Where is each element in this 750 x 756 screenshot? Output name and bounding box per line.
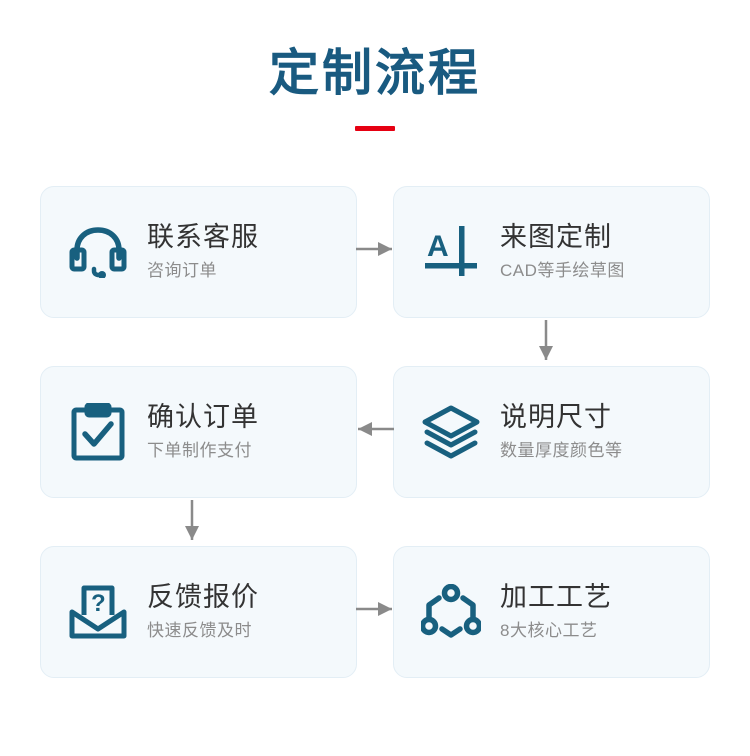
flow-step-title: 反馈报价 (147, 580, 259, 614)
flow-step-processing-craft[interactable]: 加工工艺 8大核心工艺 (393, 546, 710, 678)
flow-step-text: 说明尺寸 数量厚度颜色等 (500, 400, 623, 464)
flow-step-subtitle: 快速反馈及时 (147, 618, 259, 644)
connector-arrow-right-icon (356, 240, 394, 263)
drafting-a-icon: A (420, 221, 482, 283)
flow-step-title: 确认订单 (147, 400, 259, 434)
connector-arrow-right-icon (356, 600, 394, 623)
headset-icon (67, 221, 129, 283)
flow-step-text: 来图定制 CAD等手绘草图 (500, 220, 625, 284)
connector-arrow-left-icon (356, 420, 394, 443)
title-underline-accent (355, 126, 395, 131)
flow-step-text: 确认订单 下单制作支付 (147, 400, 259, 464)
flow-step-subtitle: 数量厚度颜色等 (500, 438, 623, 464)
flow-step-text: 联系客服 咨询订单 (147, 220, 259, 284)
flow-step-title: 加工工艺 (500, 580, 612, 614)
connector-arrow-down-icon (537, 320, 555, 367)
clipboard-check-icon (67, 401, 129, 463)
connector-arrow-down-icon (183, 500, 201, 547)
custom-process-infographic: 定制流程 联系客服 咨询订单 (0, 0, 750, 756)
flow-step-confirm-order[interactable]: 确认订单 下单制作支付 (40, 366, 357, 498)
flow-step-title: 说明尺寸 (500, 400, 623, 434)
flow-step-subtitle: 下单制作支付 (147, 438, 259, 464)
flow-step-feedback-quote[interactable]: ? 反馈报价 快速反馈及时 (40, 546, 357, 678)
envelope-question-icon: ? (67, 581, 129, 643)
svg-text:A: A (427, 230, 449, 263)
flow-step-title: 来图定制 (500, 220, 625, 254)
flow-step-subtitle: CAD等手绘草图 (500, 258, 625, 284)
flow-step-drawing-customization[interactable]: A 来图定制 CAD等手绘草图 (393, 186, 710, 318)
flow-step-specify-dimensions[interactable]: 说明尺寸 数量厚度颜色等 (393, 366, 710, 498)
layers-icon (420, 401, 482, 463)
hexagon-nodes-icon (420, 581, 482, 643)
flow-step-title: 联系客服 (147, 220, 259, 254)
flow-step-subtitle: 8大核心工艺 (500, 618, 612, 644)
flow-step-subtitle: 咨询订单 (147, 258, 259, 284)
page-header: 定制流程 (0, 42, 750, 131)
svg-text:?: ? (91, 590, 106, 617)
page-title: 定制流程 (0, 42, 750, 104)
flow-step-text: 反馈报价 快速反馈及时 (147, 580, 259, 644)
flow-step-text: 加工工艺 8大核心工艺 (500, 580, 612, 644)
flow-step-contact-service[interactable]: 联系客服 咨询订单 (40, 186, 357, 318)
